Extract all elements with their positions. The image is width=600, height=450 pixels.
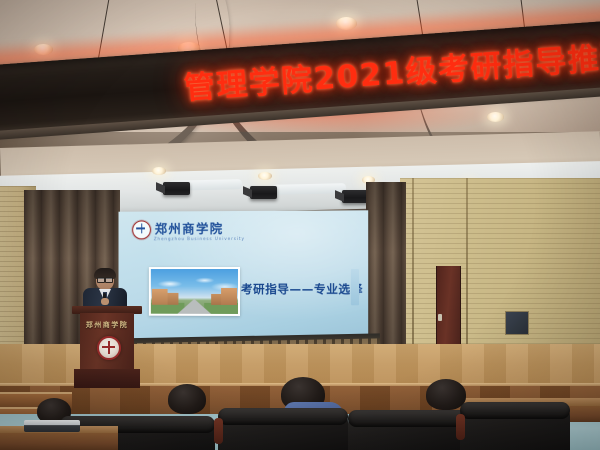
slide-campus-photo xyxy=(149,267,240,316)
university-seal-logo-icon xyxy=(132,220,151,239)
chair-armrest xyxy=(214,418,223,444)
front-desk-panel xyxy=(0,433,118,450)
campus-photo-inner xyxy=(151,269,238,314)
desk-items[interactable] xyxy=(24,420,80,432)
audience-chair[interactable] xyxy=(348,410,468,450)
podium-nameplate-text: 郑州商学院 xyxy=(76,320,138,330)
audience-seating-row xyxy=(0,380,600,450)
lectern-podium: 郑州商学院 xyxy=(76,306,138,388)
ceiling-speaker xyxy=(250,186,277,199)
campus-building xyxy=(152,289,168,305)
projection-screen: 郑州商学院 Zhengzhou Business University 考研指导… xyxy=(119,210,369,339)
wall-control-panel[interactable] xyxy=(505,311,529,335)
university-crest-emblem-icon xyxy=(97,336,121,360)
slide-institution-name-en: Zhengzhou Business University xyxy=(154,236,245,241)
recessed-ceiling-spotlight xyxy=(258,172,272,180)
audience-chair[interactable] xyxy=(460,402,570,450)
recessed-ceiling-spotlight xyxy=(152,167,166,175)
ceiling-speaker xyxy=(342,190,369,203)
chair-armrest xyxy=(456,414,465,440)
campus-building xyxy=(221,288,237,305)
audience-member-head xyxy=(168,384,206,414)
slide-accent-bar xyxy=(351,269,359,305)
campus-building xyxy=(211,294,221,305)
auditorium-photo: 管理学院2021级考研指导推进会 郑州商学院 Zhengzhou Busines… xyxy=(0,0,600,450)
ceiling-speaker xyxy=(163,182,190,195)
slide-title-text: 考研指导——专业选择 xyxy=(241,281,363,297)
audience-chair[interactable] xyxy=(218,408,348,450)
chair-headrest xyxy=(460,402,570,419)
door-handle[interactable] xyxy=(438,314,442,321)
chair-headrest xyxy=(348,410,468,427)
presenter-hand xyxy=(101,298,109,305)
slide-institution-name-cn: 郑州商学院 xyxy=(155,223,224,236)
audience-member-head xyxy=(426,379,466,410)
chair-headrest xyxy=(218,408,348,425)
campus-road xyxy=(177,299,211,314)
glasses-icon xyxy=(97,277,113,281)
